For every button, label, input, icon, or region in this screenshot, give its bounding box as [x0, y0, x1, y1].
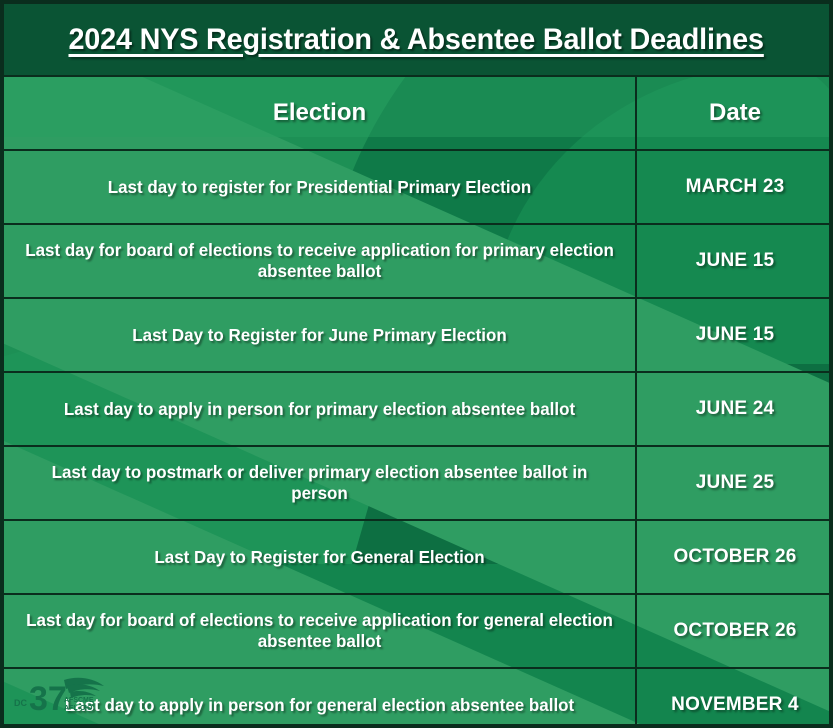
- table-row: Last day to apply in person for general …: [4, 668, 833, 728]
- cell-election: Last Day to Register for General Electio…: [13, 520, 626, 594]
- cell-date: OCTOBER 26: [636, 594, 833, 668]
- table-header-row: Election Date: [4, 76, 833, 150]
- table-body: Last day to register for Presidential Pr…: [4, 150, 833, 728]
- poster-title-band: 2024 NYS Registration & Absentee Ballot …: [4, 4, 829, 75]
- deadlines-table: Election Date Last day to register for P…: [4, 75, 833, 728]
- table-row: Last day to apply in person for primary …: [4, 372, 833, 446]
- cell-date: NOVEMBER 4: [636, 668, 833, 728]
- table-row: Last Day to Register for June Primary El…: [4, 298, 833, 372]
- cell-date: OCTOBER 26: [636, 520, 833, 594]
- table-row: Last day to register for Presidential Pr…: [4, 150, 833, 224]
- column-header-election: Election: [4, 76, 636, 150]
- cell-date: MARCH 23: [636, 150, 833, 224]
- cell-date: JUNE 25: [636, 446, 833, 520]
- cell-election: Last day to apply in person for general …: [13, 668, 626, 728]
- page-title: 2024 NYS Registration & Absentee Ballot …: [69, 23, 764, 57]
- table-row: Last Day to Register for General Electio…: [4, 520, 833, 594]
- table-row: Last day for board of elections to recei…: [4, 594, 833, 668]
- deadlines-poster: 2024 NYS Registration & Absentee Ballot …: [0, 0, 833, 728]
- cell-date: JUNE 24: [636, 372, 833, 446]
- cell-date: JUNE 15: [636, 224, 833, 298]
- cell-election: Last day to postmark or deliver primary …: [13, 446, 626, 520]
- cell-election: Last day to apply in person for primary …: [13, 372, 626, 446]
- column-header-date: Date: [636, 76, 833, 150]
- cell-election: Last day for board of elections to recei…: [13, 224, 626, 298]
- cell-election: Last Day to Register for June Primary El…: [13, 298, 626, 372]
- cell-date: JUNE 15: [636, 298, 833, 372]
- cell-election: Last day for board of elections to recei…: [13, 594, 626, 668]
- cell-election: Last day to register for Presidential Pr…: [13, 150, 626, 224]
- table-row: Last day to postmark or deliver primary …: [4, 446, 833, 520]
- table-row: Last day for board of elections to recei…: [4, 224, 833, 298]
